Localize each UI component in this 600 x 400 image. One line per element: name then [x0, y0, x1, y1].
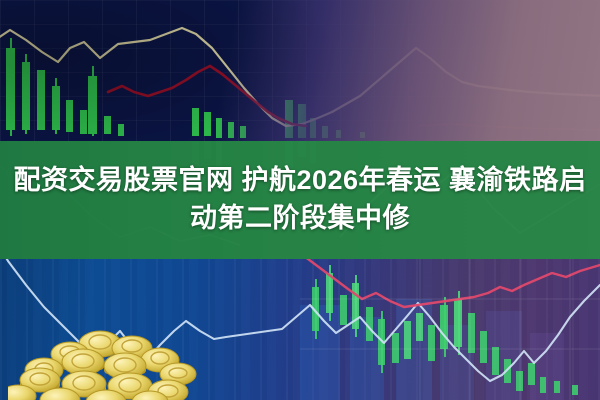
banner-image: 配资交易股票官网 护航2026年春运 襄渝铁路启 动第二阶段集中修	[0, 0, 600, 400]
page-title: 配资交易股票官网 护航2026年春运 襄渝铁路启 动第二阶段集中修	[0, 141, 600, 259]
title-line-1: 配资交易股票官网 护航2026年春运 襄渝铁路启	[13, 164, 586, 198]
top-chart-panel	[0, 0, 600, 141]
coin-group	[8, 331, 196, 400]
title-line-2: 动第二阶段集中修	[190, 202, 410, 236]
bottom-chart-panel	[0, 259, 600, 400]
top-vignette	[0, 0, 600, 141]
gold-coins-pile-icon	[8, 318, 223, 400]
title-band: 配资交易股票官网 护航2026年春运 襄渝铁路启 动第二阶段集中修	[0, 141, 600, 259]
